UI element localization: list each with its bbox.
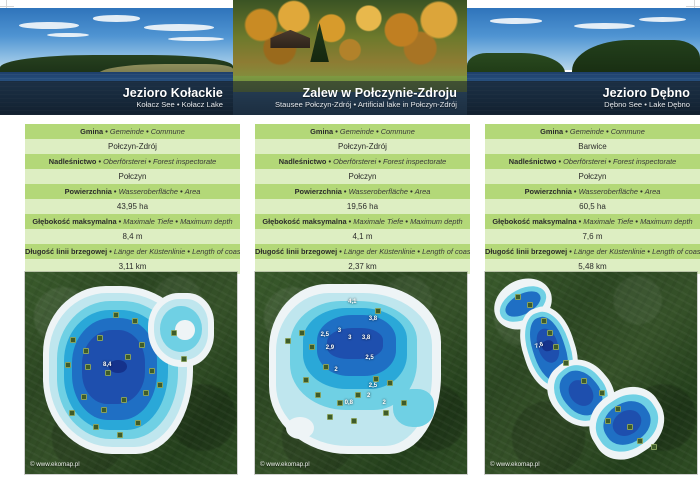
separator: •: [569, 247, 572, 256]
separator: •: [119, 217, 122, 226]
label-en: Area: [415, 187, 431, 196]
sounding-point: [149, 368, 155, 374]
label-de: Gemeinde: [110, 127, 144, 136]
sounding-point: [615, 406, 621, 412]
label-de: Oberförsterei: [563, 157, 606, 166]
sounding-point: [113, 312, 119, 318]
label-de: Oberförsterei: [103, 157, 146, 166]
label-de: Gemeinde: [340, 127, 374, 136]
table-row-value: Połczyn-Zdrój: [255, 139, 470, 154]
depth-label: 2,5: [365, 355, 373, 361]
separator: •: [349, 217, 352, 226]
bathymetric-map-kolackie[interactable]: 8,4 © www.ekomap.pl: [25, 272, 237, 474]
separator: •: [105, 127, 108, 136]
table-row-value: 8,4 m: [25, 229, 240, 244]
sounding-point: [401, 400, 407, 406]
sounding-point: [181, 356, 187, 362]
info-table-polczyn-zdroj: Gmina • Gemeinde • CommunePołczyn-ZdrójN…: [255, 124, 470, 274]
photo-polczyn-zdroj: Zalew w Połczynie-Zdroju Stausee Połczyn…: [233, 0, 467, 115]
sounding-point: [70, 337, 76, 343]
depth-label: 3: [348, 335, 351, 341]
photo-title: Jezioro Dębno: [603, 86, 690, 100]
depth-label: 2,5: [321, 332, 329, 338]
sounding-point: [527, 302, 533, 308]
label-en: Length of coastline: [422, 247, 470, 256]
sounding-point: [299, 330, 305, 336]
sounding-point: [69, 410, 75, 416]
copyright-label: © www.ekomap.pl: [30, 461, 80, 468]
table-row-value: Połczyn-Zdrój: [25, 139, 240, 154]
separator: •: [608, 157, 611, 166]
label-en: Maximum depth: [410, 217, 463, 226]
depth-label: 3: [338, 328, 341, 334]
label-pl: Głębokość maksymalna: [32, 217, 116, 226]
copyright-label: © www.ekomap.pl: [260, 461, 310, 468]
label-pl: Powierzchnia: [525, 187, 572, 196]
separator: •: [606, 127, 609, 136]
separator: •: [146, 127, 149, 136]
separator: •: [180, 187, 183, 196]
info-table-debno: Gmina • Gemeinde • CommuneBarwiceNadleśn…: [485, 124, 700, 274]
sounding-point: [563, 360, 569, 366]
bathymetric-map-debno[interactable]: 7,6 © www.ekomap.pl: [485, 272, 697, 474]
sounding-point: [337, 400, 343, 406]
cloud: [19, 22, 80, 29]
label-pl: Długość linii brzegowej: [485, 247, 567, 256]
photo-title: Zalew w Połczynie-Zdroju: [302, 86, 457, 100]
label-en: Forest inspectorate: [383, 157, 446, 166]
max-depth-label: 8,4: [103, 362, 111, 368]
table-row-value: Połczyn: [485, 169, 700, 184]
photo-title: Jezioro Kołackie: [123, 86, 223, 100]
autumn-treeline: [233, 0, 467, 83]
table-row-value: Połczyn: [255, 169, 470, 184]
photo-caption: Jezioro Dębno Dębno See • Lake Dębno: [467, 81, 700, 115]
label-de: Länge der Küstenlinie: [344, 247, 416, 256]
info-table-kolackie: Gmina • Gemeinde • CommunePołczyn-ZdrójN…: [25, 124, 240, 274]
sounding-point: [605, 418, 611, 424]
label-pl: Głębokość maksymalna: [492, 217, 576, 226]
table-row-header: Gmina • Gemeinde • Commune: [255, 124, 470, 139]
photo-caption: Jezioro Kołackie Kołacz See • Kołacz Lak…: [0, 81, 233, 115]
label-pl: Nadleśnictwo: [49, 157, 97, 166]
brochure-page: Jezioro Kołackie Kołacz See • Kołacz Lak…: [0, 0, 700, 490]
table-row-header: Długość linii brzegowej • Länge der Küst…: [255, 244, 470, 259]
label-de: Maximale Tiefe: [123, 217, 173, 226]
cloud: [93, 15, 140, 21]
table-row-header: Nadleśnictwo • Oberförsterei • Forest in…: [255, 154, 470, 169]
sounding-point: [121, 397, 127, 403]
separator: •: [175, 217, 178, 226]
sounding-point: [135, 420, 141, 426]
sounding-point: [303, 377, 309, 383]
separator: •: [378, 157, 381, 166]
sounding-point: [105, 370, 111, 376]
island: [286, 417, 314, 439]
sounding-point: [97, 335, 103, 341]
separator: •: [109, 247, 112, 256]
sounding-point: [383, 410, 389, 416]
sounding-point: [101, 407, 107, 413]
separator: •: [574, 187, 577, 196]
label-de: Wasseroberfläche: [119, 187, 178, 196]
separator: •: [344, 187, 347, 196]
label-pl: Gmina: [540, 127, 563, 136]
label-en: Commune: [611, 127, 645, 136]
label-en: Length of coastline: [192, 247, 240, 256]
table-row-header: Gmina • Gemeinde • Commune: [485, 124, 700, 139]
sounding-point: [309, 344, 315, 350]
label-pl: Gmina: [310, 127, 333, 136]
table-row-value: Połczyn: [25, 169, 240, 184]
depth-label: 3,8: [362, 335, 370, 341]
separator: •: [647, 247, 650, 256]
sounding-point: [515, 294, 521, 300]
sounding-point: [315, 392, 321, 398]
sounding-point: [627, 424, 633, 430]
depth-label: 4,1: [348, 299, 356, 305]
separator: •: [410, 187, 413, 196]
sounding-point: [143, 390, 149, 396]
sounding-point: [81, 394, 87, 400]
photo-subtitle: Kołacz See • Kołacz Lake: [136, 100, 223, 110]
label-en: Length of coastline: [652, 247, 700, 256]
depth-label: 2: [383, 400, 386, 406]
sounding-point: [323, 364, 329, 370]
separator: •: [405, 217, 408, 226]
sounding-point: [85, 364, 91, 370]
sounding-point: [125, 354, 131, 360]
table-row-header: Gmina • Gemeinde • Commune: [25, 124, 240, 139]
label-en: Forest inspectorate: [153, 157, 216, 166]
table-row-header: Głębokość maksymalna • Maximale Tiefe • …: [485, 214, 700, 229]
label-pl: Głębokość maksymalna: [262, 217, 346, 226]
label-de: Länge der Küstenlinie: [114, 247, 186, 256]
cloud: [490, 18, 541, 24]
separator: •: [335, 127, 338, 136]
sounding-point: [139, 342, 145, 348]
label-en: Maximum depth: [180, 217, 233, 226]
table-row-header: Głębokość maksymalna • Maximale Tiefe • …: [25, 214, 240, 229]
separator: •: [558, 157, 561, 166]
sounding-point: [547, 330, 553, 336]
label-pl: Nadleśnictwo: [509, 157, 557, 166]
separator: •: [187, 247, 190, 256]
sounding-point: [651, 444, 657, 450]
separator: •: [565, 127, 568, 136]
label-pl: Długość linii brzegowej: [25, 247, 107, 256]
separator: •: [579, 217, 582, 226]
table-row-header: Nadleśnictwo • Oberförsterei • Forest in…: [485, 154, 700, 169]
depth-band-5: [327, 328, 382, 359]
photo-band: Jezioro Kołackie Kołacz See • Kołacz Lak…: [0, 0, 700, 115]
label-de: Länge der Küstenlinie: [574, 247, 646, 256]
label-en: Area: [185, 187, 201, 196]
separator: •: [98, 157, 101, 166]
label-pl: Powierzchnia: [65, 187, 112, 196]
label-en: Area: [645, 187, 661, 196]
copyright-label: © www.ekomap.pl: [490, 461, 540, 468]
sounding-point: [83, 348, 89, 354]
sounding-point: [117, 432, 123, 438]
cloud: [639, 17, 686, 22]
separator: •: [114, 187, 117, 196]
label-en: Commune: [381, 127, 415, 136]
photo-kolackie: Jezioro Kołackie Kołacz See • Kołacz Lak…: [0, 8, 233, 115]
lake-outline: 4,1 3,8 3,8 2,5 3 3 2,9 2,5 2 2,5 0,8 2 …: [269, 284, 441, 454]
label-en: Maximum depth: [640, 217, 693, 226]
table-row-value: 60,5 ha: [485, 199, 700, 214]
cloud: [47, 33, 89, 37]
table-row-value: 19,56 ha: [255, 199, 470, 214]
separator: •: [328, 157, 331, 166]
label-de: Wasseroberfläche: [349, 187, 408, 196]
label-en: Forest inspectorate: [613, 157, 676, 166]
table-row-value: 43,95 ha: [25, 199, 240, 214]
depth-band-2: [393, 389, 434, 426]
table-row-header: Długość linii brzegowej • Länge der Küst…: [485, 244, 700, 259]
sounding-point: [387, 380, 393, 386]
separator: •: [640, 187, 643, 196]
depth-label: 2,9: [326, 345, 334, 351]
depth-label: 2: [334, 367, 337, 373]
label-pl: Nadleśnictwo: [279, 157, 327, 166]
sounding-point: [355, 392, 361, 398]
table-row-value: Barwice: [485, 139, 700, 154]
sounding-point: [373, 376, 379, 382]
photo-subtitle: Dębno See • Lake Dębno: [604, 100, 690, 110]
depth-label: 3,8: [369, 316, 377, 322]
table-row-header: Powierzchnia • Wasseroberfläche • Area: [485, 184, 700, 199]
photo-debno: Jezioro Dębno Dębno See • Lake Dębno: [467, 8, 700, 115]
table-row-header: Powierzchnia • Wasseroberfläche • Area: [255, 184, 470, 199]
label-de: Maximale Tiefe: [583, 217, 633, 226]
photo-subtitle: Stausee Połczyn-Zdrój • Artificial lake …: [275, 100, 457, 110]
sounding-point: [599, 390, 605, 396]
separator: •: [376, 127, 379, 136]
sounding-point: [65, 362, 71, 368]
label-de: Wasseroberfläche: [579, 187, 638, 196]
table-row-header: Nadleśnictwo • Oberförsterei • Forest in…: [25, 154, 240, 169]
label-pl: Gmina: [80, 127, 103, 136]
table-row-value: 4,1 m: [255, 229, 470, 244]
cloud: [144, 24, 214, 31]
sounding-point: [351, 418, 357, 424]
sounding-point: [285, 338, 291, 344]
separator: •: [635, 217, 638, 226]
photo-caption: Zalew w Połczynie-Zdroju Stausee Połczyn…: [233, 81, 467, 115]
separator: •: [148, 157, 151, 166]
sounding-point: [327, 414, 333, 420]
label-pl: Długość linii brzegowej: [255, 247, 337, 256]
sounding-point: [157, 382, 163, 388]
depth-label: 0,8: [345, 400, 353, 406]
sounding-point: [375, 308, 381, 314]
table-row-header: Długość linii brzegowej • Länge der Küst…: [25, 244, 240, 259]
sounding-point: [553, 344, 559, 350]
table-row-header: Powierzchnia • Wasseroberfläche • Area: [25, 184, 240, 199]
cloud: [168, 37, 224, 41]
label-de: Maximale Tiefe: [353, 217, 403, 226]
table-row-header: Głębokość maksymalna • Maximale Tiefe • …: [255, 214, 470, 229]
cloud: [574, 23, 635, 29]
label-de: Oberförsterei: [333, 157, 376, 166]
sounding-point: [637, 438, 643, 444]
table-row-value: 7,6 m: [485, 229, 700, 244]
label-en: Commune: [151, 127, 185, 136]
sounding-point: [171, 330, 177, 336]
sounding-point: [93, 424, 99, 430]
sounding-point: [132, 318, 138, 324]
bathymetric-map-polczyn-zdroj[interactable]: 4,1 3,8 3,8 2,5 3 3 2,9 2,5 2 2,5 0,8 2 …: [255, 272, 467, 474]
sounding-point: [581, 378, 587, 384]
label-de: Gemeinde: [570, 127, 604, 136]
label-pl: Powierzchnia: [295, 187, 342, 196]
depth-label: 2,5: [369, 383, 377, 389]
sounding-point: [541, 318, 547, 324]
separator: •: [417, 247, 420, 256]
depth-label: 2: [367, 393, 370, 399]
separator: •: [339, 247, 342, 256]
island: [175, 320, 195, 340]
